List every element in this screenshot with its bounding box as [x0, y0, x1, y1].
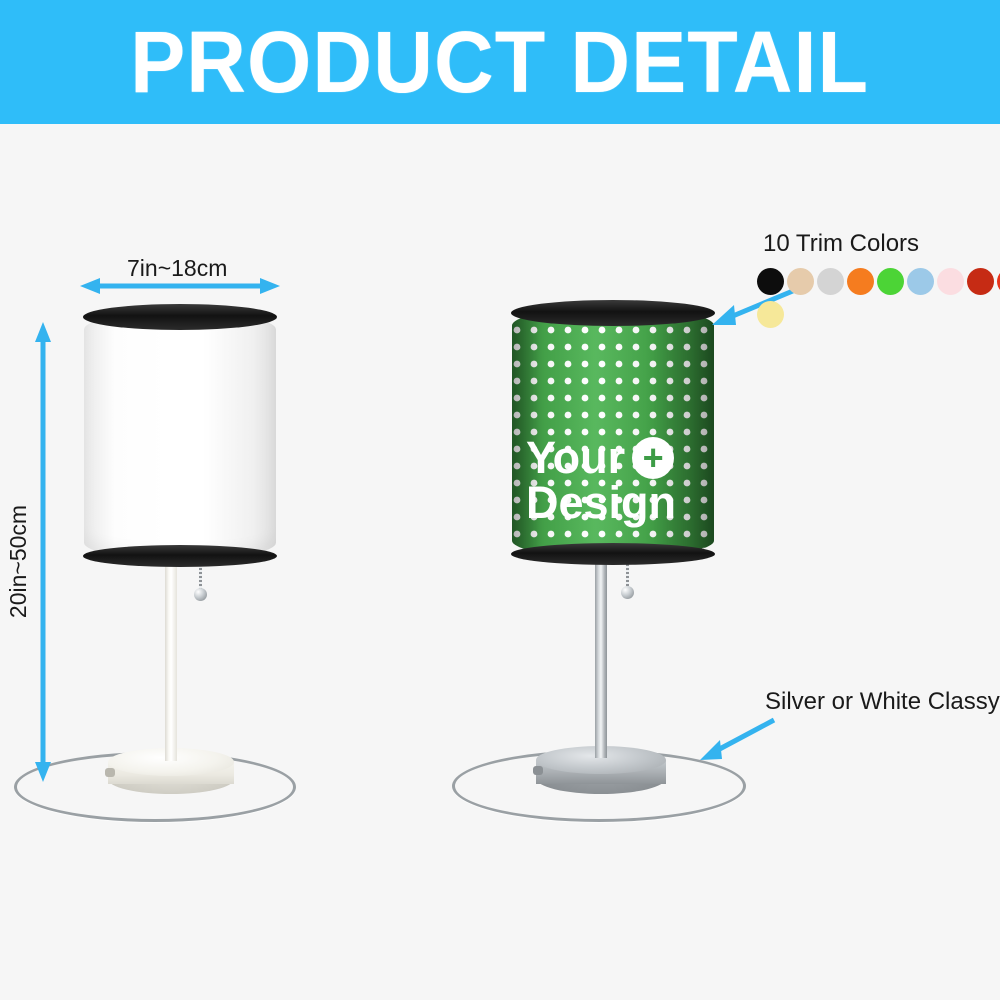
swatch-dark-red[interactable]	[967, 268, 994, 295]
height-label: 20in~50cm	[5, 505, 32, 618]
design-placeholder-text: Your + Design	[526, 436, 676, 524]
design-text-design: Design	[526, 481, 676, 524]
swatch-pale-yellow[interactable]	[757, 301, 784, 328]
swatch-light-gray[interactable]	[817, 268, 844, 295]
lampshade-trim-top-green	[511, 300, 715, 326]
swatch-pink[interactable]	[937, 268, 964, 295]
plus-icon: +	[632, 437, 674, 479]
width-arrow	[80, 275, 280, 297]
swatch-row-1	[757, 268, 1000, 295]
pull-chain-ball-white	[194, 588, 207, 601]
lamp-pole-white	[165, 556, 177, 761]
green-lamp: Your + Design	[430, 0, 770, 1000]
lampshade-white	[84, 312, 276, 560]
swatch-black[interactable]	[757, 268, 784, 295]
cord-connector-white	[105, 768, 115, 777]
pull-chain-ball-silver	[621, 586, 634, 599]
cord-connector-silver	[533, 766, 543, 775]
product-detail-page: PRODUCT DETAIL	[0, 0, 1000, 1000]
swatch-row-2	[757, 301, 1000, 328]
design-text-your: Your	[526, 436, 625, 479]
lampshade-green: Your + Design	[512, 308, 714, 558]
lampshade-trim-top-white	[83, 304, 277, 330]
design-line-2: Design	[526, 481, 676, 524]
swatch-orange[interactable]	[847, 268, 874, 295]
base-finish-arrow	[694, 714, 780, 764]
swatch-tan[interactable]	[787, 268, 814, 295]
swatch-light-blue[interactable]	[907, 268, 934, 295]
lampshade-surface-green: Your + Design	[512, 308, 714, 558]
lampshade-trim-bottom-white	[83, 545, 277, 567]
height-arrow	[32, 322, 54, 782]
lamp-pole-silver	[595, 552, 607, 758]
design-line-1: Your +	[526, 436, 676, 479]
lampshade-surface-white	[84, 312, 276, 560]
trim-colors-title: 10 Trim Colors	[763, 230, 919, 258]
trim-color-swatches	[757, 268, 1000, 334]
swatch-green[interactable]	[877, 268, 904, 295]
base-finish-label: Silver or White Classy	[765, 688, 1000, 716]
lampshade-trim-bottom-green	[511, 543, 715, 565]
